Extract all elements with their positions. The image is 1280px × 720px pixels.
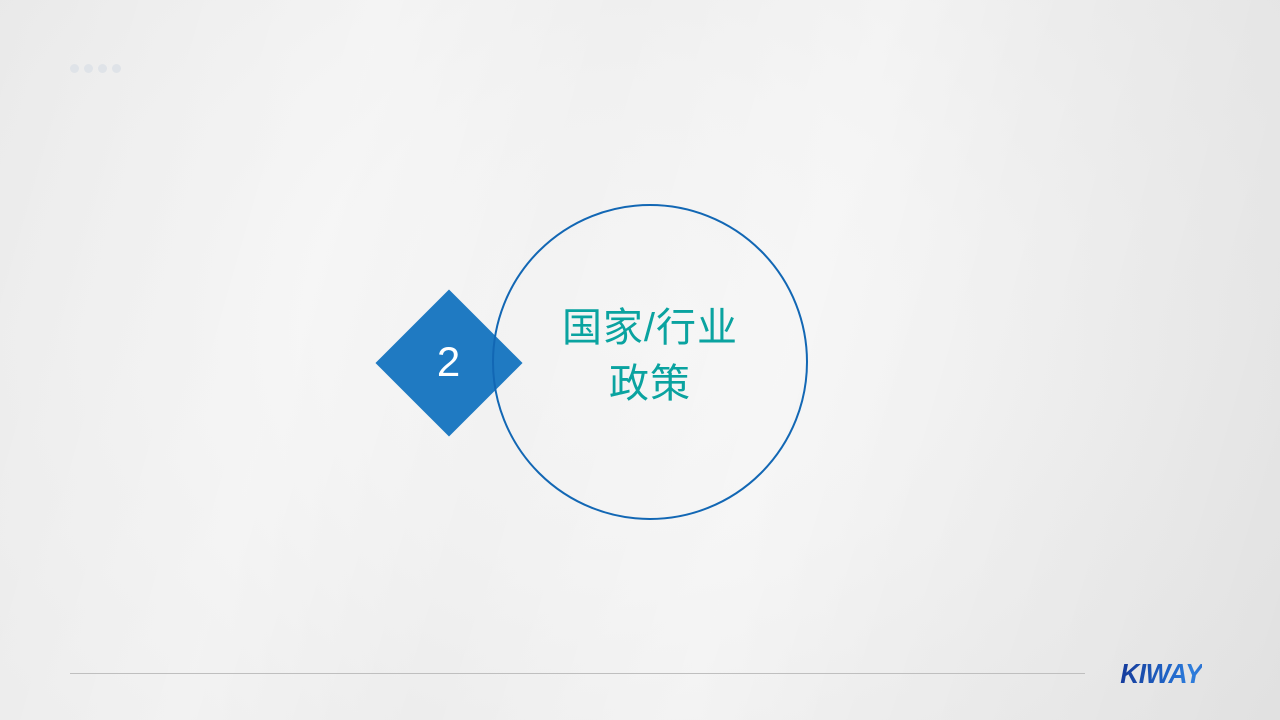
dot-4-icon xyxy=(112,64,121,73)
brand-logo-text: KIWAY xyxy=(1120,660,1202,688)
slide-canvas: 2 国家/行业 政策 KIWAY xyxy=(0,0,1280,720)
dot-1-icon xyxy=(70,64,79,73)
footer-divider xyxy=(70,673,1085,674)
section-graphic: 2 国家/行业 政策 xyxy=(0,0,1280,720)
brand-logo: KIWAY xyxy=(1115,660,1202,688)
dot-3-icon xyxy=(98,64,107,73)
section-title: 国家/行业 政策 xyxy=(505,300,795,412)
decorative-dots xyxy=(70,64,121,73)
dot-2-icon xyxy=(84,64,93,73)
